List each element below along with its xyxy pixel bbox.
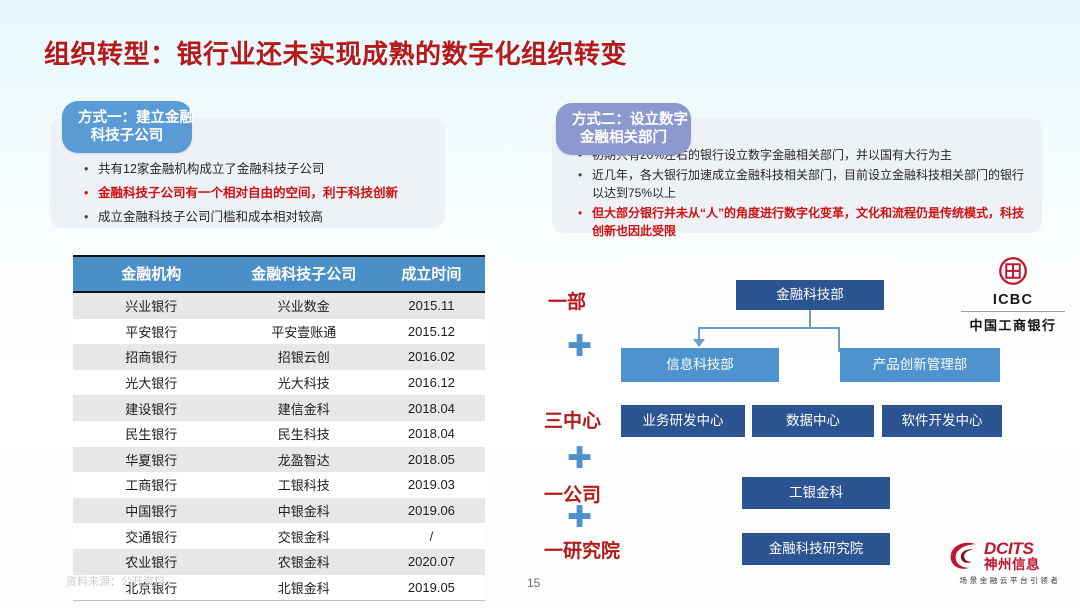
cell-institution: 招商银行 — [73, 344, 230, 370]
cell-institution: 交通银行 — [73, 523, 230, 549]
cell-subsidiary: 招银云创 — [230, 344, 378, 370]
method-two-tab: 方式二：设立数字 金融相关部门 — [556, 103, 691, 155]
cell-subsidiary: 龙盈智达 — [230, 447, 378, 473]
icbc-logo-en: ICBC — [957, 292, 1069, 308]
table-row: 平安银行 平安壹账通 2015.12 — [73, 319, 485, 345]
cell-institution: 中国银行 — [73, 498, 230, 524]
cell-founded: / — [378, 523, 485, 549]
cell-founded: 2015.11 — [378, 292, 485, 319]
dcits-wordmark: DCITS 神州信息 — [984, 541, 1040, 572]
cell-founded: 2019.06 — [378, 498, 485, 524]
cell-institution: 兴业银行 — [73, 292, 230, 319]
org-node-product-innovation: 产品创新管理部 — [840, 348, 1000, 382]
list-item: • 共有12家金融机构成立了金融科技子公司 — [84, 160, 444, 179]
connector-arrow-icon — [693, 339, 705, 347]
method-one-tab-line2: 科技子公司 — [78, 127, 176, 145]
slide-canvas: 组织转型：银行业还未实现成熟的数字化组织转变 方式一：建立金融 科技子公司 • … — [0, 0, 1080, 608]
dcits-logo-top: DCITS 神州信息 — [948, 540, 1072, 572]
method-one-tab: 方式一：建立金融 科技子公司 — [62, 101, 192, 153]
bullet-text: 近几年，各大银行加速成立金融科技相关部门，目前设立金融科技相关部门的银行以达到7… — [592, 166, 1033, 202]
dcits-logo-cn: 神州信息 — [984, 557, 1040, 572]
org-node-company: 工银金科 — [742, 477, 890, 509]
cell-institution: 光大银行 — [73, 370, 230, 396]
org-node-it-department: 信息科技部 — [621, 348, 779, 382]
table-row: 华夏银行 龙盈智达 2018.05 — [73, 447, 485, 473]
bullet-text: 金融科技子公司有一个相对自由的空间，利于科技创新 — [98, 184, 444, 203]
table-header-row: 金融机构 金融科技子公司 成立时间 — [73, 256, 485, 292]
method-two-bullets: • 初期只有20%左右的银行设立数字金融相关部门，并以国有大行为主 • 近几年，… — [578, 146, 1033, 242]
table-row: 光大银行 光大科技 2016.12 — [73, 370, 485, 396]
cell-subsidiary: 光大科技 — [230, 370, 378, 396]
bullet-text: 成立金融科技子公司门槛和成本相对较高 — [98, 208, 444, 227]
org-row-label-centers: 三中心 — [544, 406, 601, 433]
bullet-text: 共有12家金融机构成立了金融科技子公司 — [98, 160, 444, 179]
icbc-logo-divider — [961, 311, 1065, 312]
cell-founded: 2015.12 — [378, 319, 485, 345]
icbc-logo: ICBC 中国工商银行 — [957, 256, 1069, 334]
table-row: 招商银行 招银云创 2016.02 — [73, 344, 485, 370]
dcits-tagline: 场景金融云平台引领者 — [948, 575, 1072, 586]
list-item: • 但大部分银行并未从“人”的角度进行数字化变革，文化和流程仍是传统模式，科技创… — [578, 204, 1033, 240]
cell-subsidiary: 工银科技 — [230, 472, 378, 498]
org-row-label-institute: 一研究院 — [544, 536, 620, 563]
table-row: 工商银行 工银科技 2019.03 — [73, 472, 485, 498]
table-row: 民生银行 民生科技 2018.04 — [73, 421, 485, 447]
cell-institution: 平安银行 — [73, 319, 230, 345]
plus-icon: ✚ — [567, 332, 592, 362]
table-row: 兴业银行 兴业数金 2015.11 — [73, 292, 485, 319]
org-node-data-center: 数据中心 — [752, 405, 874, 437]
dcits-logo-en: DCITS — [984, 541, 1040, 557]
cell-institution: 建设银行 — [73, 395, 230, 421]
cell-subsidiary: 建信金科 — [230, 395, 378, 421]
page-title: 组织转型：银行业还未实现成熟的数字化组织转变 — [44, 34, 627, 71]
org-node-root: 金融科技部 — [736, 280, 884, 310]
method-one-tab-line1: 方式一：建立金融 — [78, 110, 194, 126]
cell-founded: 2020.07 — [378, 549, 485, 575]
cell-founded: 2016.02 — [378, 344, 485, 370]
table-row: 建设银行 建信金科 2018.04 — [73, 395, 485, 421]
cell-subsidiary: 兴业数金 — [230, 292, 378, 319]
org-node-institute: 金融科技研究院 — [742, 533, 890, 565]
cell-institution: 民生银行 — [73, 421, 230, 447]
connector-vertical-root — [809, 307, 811, 329]
bullet-dot-icon: • — [578, 166, 592, 202]
cell-institution: 华夏银行 — [73, 447, 230, 473]
page-number: 15 — [527, 576, 540, 590]
cell-subsidiary: 农银金科 — [230, 549, 378, 575]
method-two-tab-line1: 方式二：设立数字 — [572, 112, 688, 128]
method-two-tab-line2: 金融相关部门 — [572, 129, 675, 147]
bullet-dot-icon: • — [578, 204, 592, 240]
org-row-label-department: 一部 — [548, 287, 586, 314]
cell-founded: 2019.03 — [378, 472, 485, 498]
cell-founded: 2018.04 — [378, 395, 485, 421]
cell-institution: 农业银行 — [73, 549, 230, 575]
list-item: • 成立金融科技子公司门槛和成本相对较高 — [84, 208, 444, 227]
bullet-dot-icon: • — [84, 208, 98, 227]
cell-founded: 2018.04 — [378, 421, 485, 447]
cell-subsidiary: 民生科技 — [230, 421, 378, 447]
cell-founded: 2019.05 — [378, 575, 485, 601]
icbc-logo-cn: 中国工商银行 — [957, 315, 1069, 334]
cell-founded: 2018.05 — [378, 447, 485, 473]
bullet-dot-icon: • — [84, 160, 98, 179]
plus-icon: ✚ — [567, 503, 592, 533]
source-note: 资料来源：公开资料 — [66, 573, 165, 589]
cell-institution: 工商银行 — [73, 472, 230, 498]
column-header-subsidiary: 金融科技子公司 — [230, 256, 378, 292]
list-item: • 金融科技子公司有一个相对自由的空间，利于科技创新 — [84, 184, 444, 203]
plus-icon: ✚ — [567, 444, 592, 474]
cell-subsidiary: 平安壹账通 — [230, 319, 378, 345]
connector-horizontal — [698, 327, 840, 329]
bullet-dot-icon: • — [84, 184, 98, 203]
icbc-emblem-icon — [998, 256, 1028, 286]
cell-subsidiary: 中银金科 — [230, 498, 378, 524]
method-one-bullets: • 共有12家金融机构成立了金融科技子公司 • 金融科技子公司有一个相对自由的空… — [84, 160, 444, 232]
table-row: 交通银行 交银金科 / — [73, 523, 485, 549]
cell-founded: 2016.12 — [378, 370, 485, 396]
fintech-subsidiary-table: 金融机构 金融科技子公司 成立时间 兴业银行 兴业数金 2015.11 平安银行… — [73, 255, 485, 601]
list-item: • 近几年，各大银行加速成立金融科技相关部门，目前设立金融科技相关部门的银行以达… — [578, 166, 1033, 202]
table-row: 中国银行 中银金科 2019.06 — [73, 498, 485, 524]
cell-subsidiary: 北银金科 — [230, 575, 378, 601]
dcits-swoosh-icon — [948, 540, 982, 572]
bullet-text: 但大部分银行并未从“人”的角度进行数字化变革，文化和流程仍是传统模式，科技创新也… — [592, 204, 1033, 240]
cell-subsidiary: 交银金科 — [230, 523, 378, 549]
column-header-founded: 成立时间 — [378, 256, 485, 292]
dcits-logo: DCITS 神州信息 场景金融云平台引领者 — [948, 540, 1072, 586]
org-node-software-dev-center: 软件开发中心 — [882, 405, 1002, 437]
org-node-business-rd-center: 业务研发中心 — [621, 405, 745, 437]
table-row: 农业银行 农银金科 2020.07 — [73, 549, 485, 575]
column-header-institution: 金融机构 — [73, 256, 230, 292]
